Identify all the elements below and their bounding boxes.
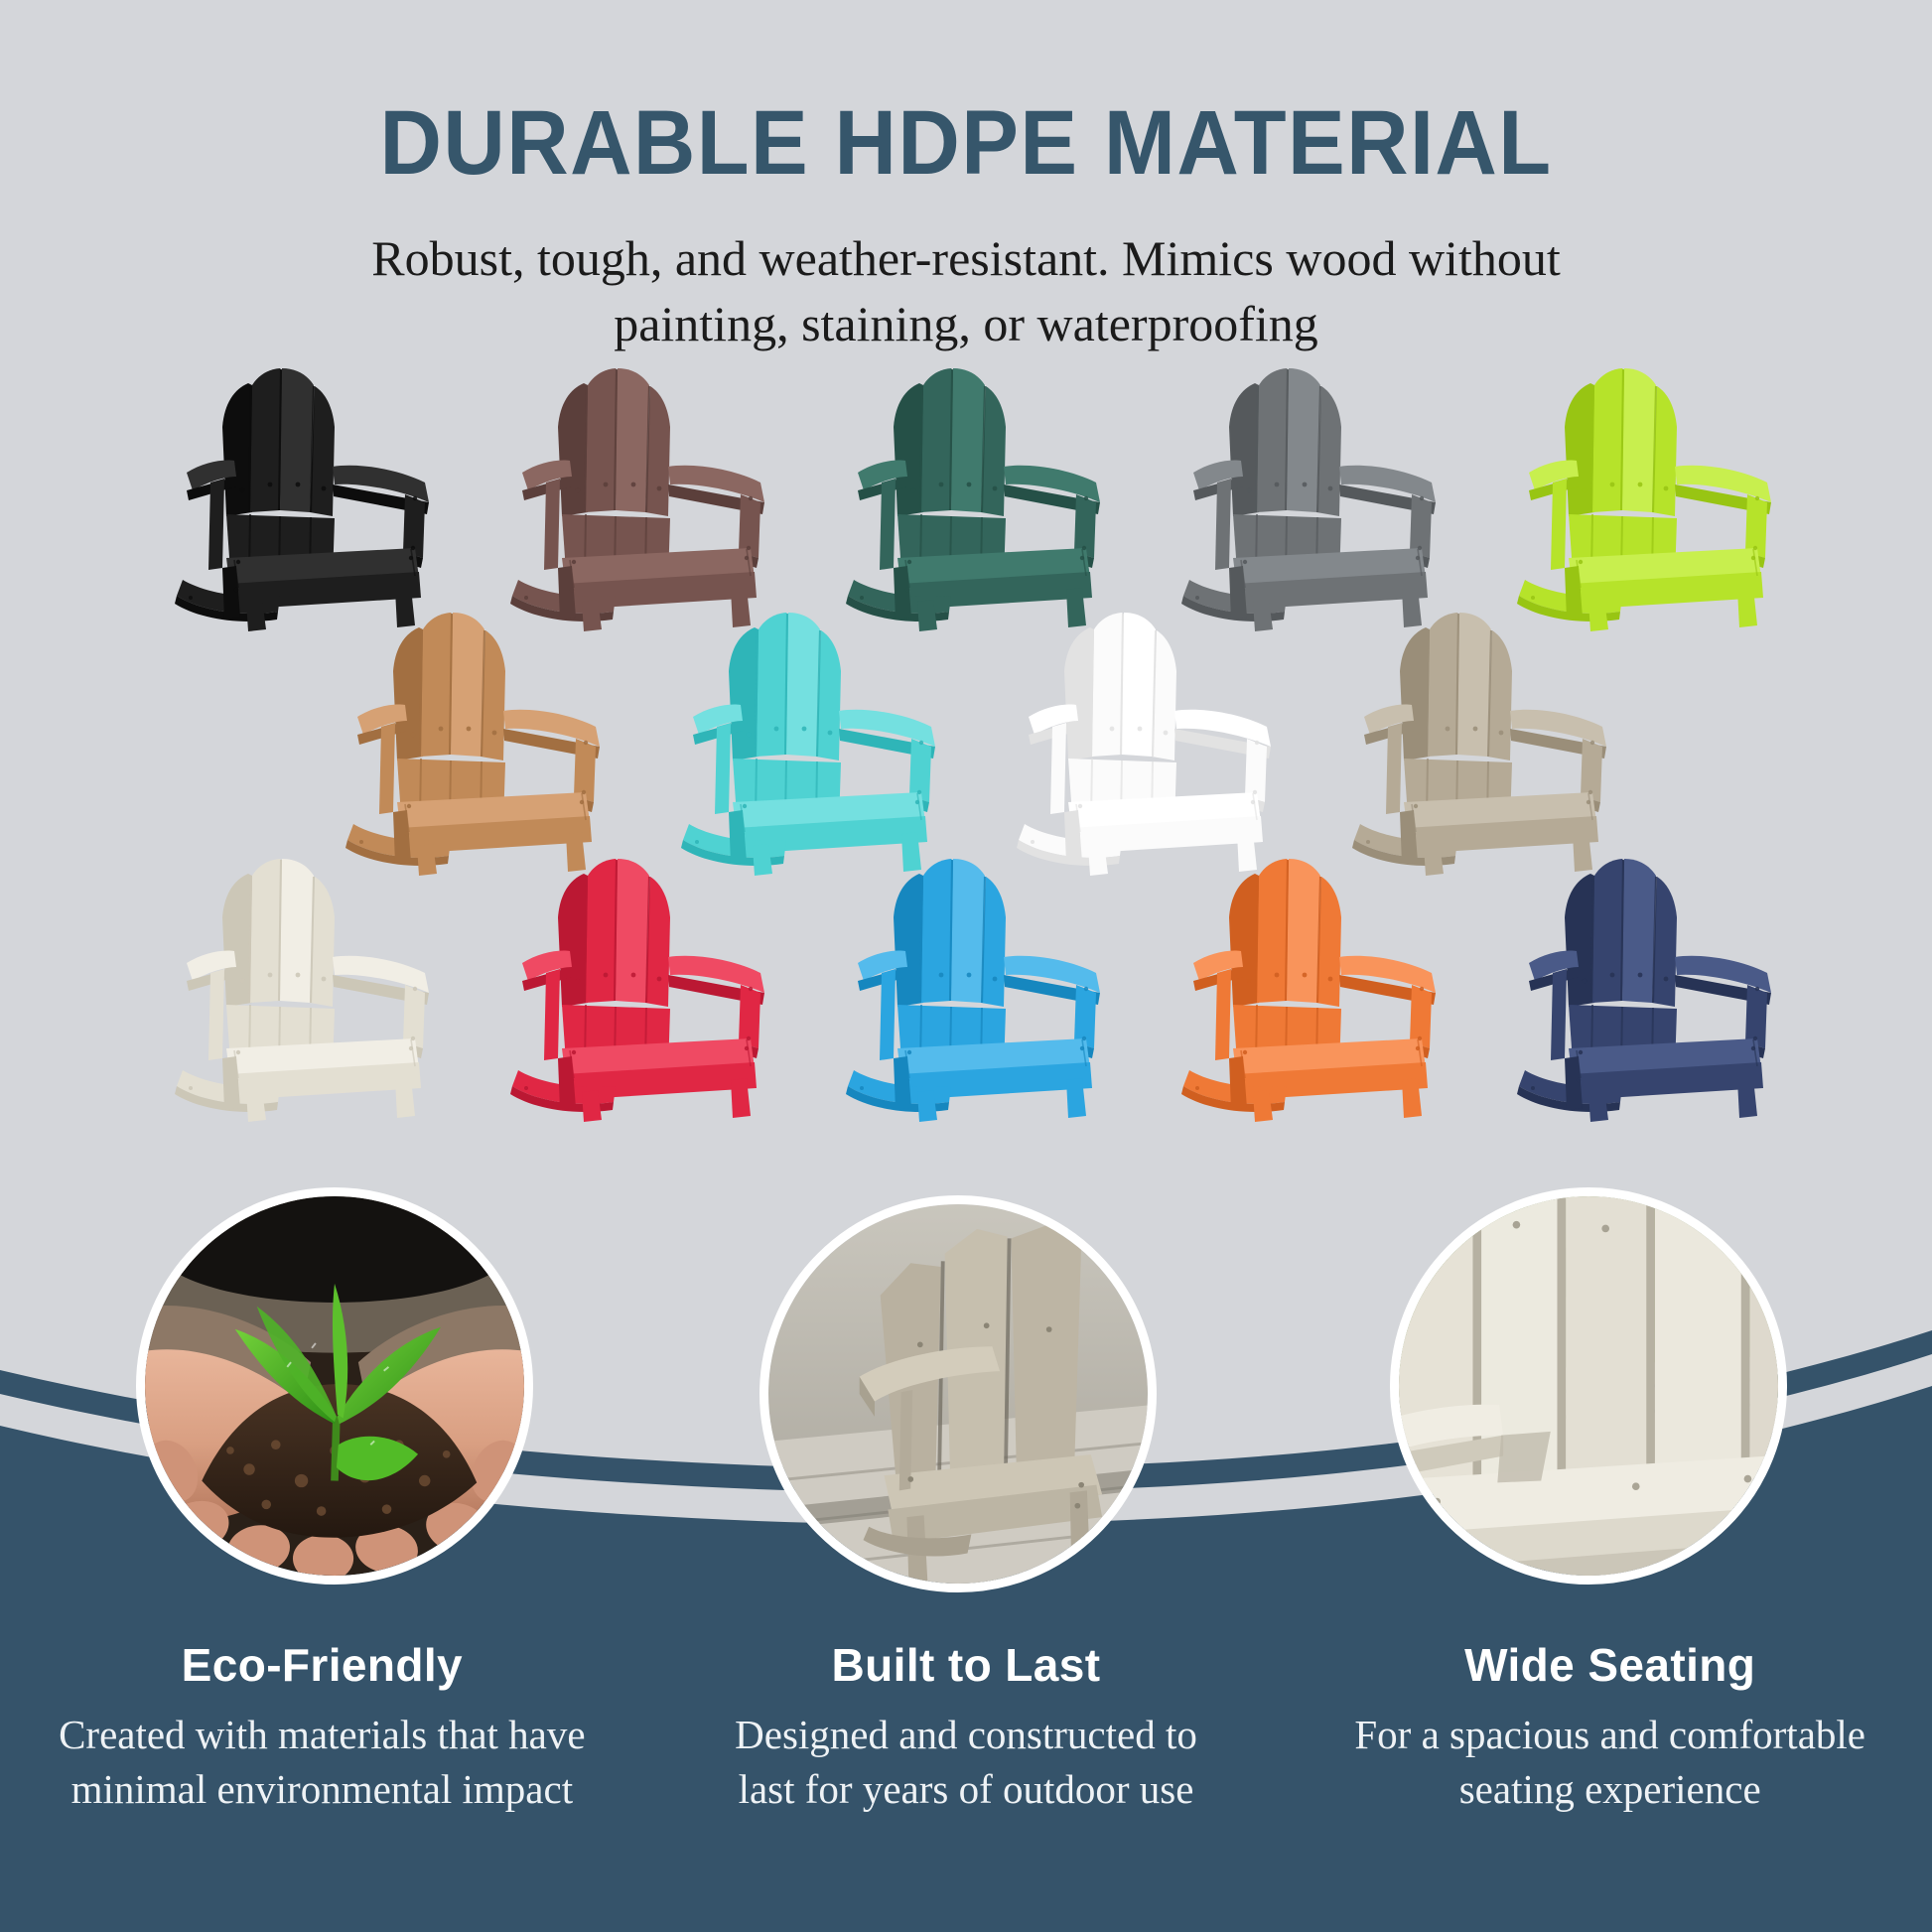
feature-description: For a spacious and comfortable seating e… xyxy=(1313,1708,1906,1817)
chair-row-3 xyxy=(0,854,1932,1124)
chair-swatch-blue[interactable] xyxy=(802,854,1130,1124)
chair-swatch-black[interactable] xyxy=(131,363,459,633)
chair-swatch-navy-blue[interactable] xyxy=(1473,854,1801,1124)
feature-title: Eco-Friendly xyxy=(26,1638,619,1692)
feature-desc-line-2: last for years of outdoor use xyxy=(739,1766,1194,1812)
subtitle-line-2: painting, staining, or waterproofing xyxy=(301,291,1631,357)
feature-photo-row xyxy=(0,1187,1932,1604)
eco-photo-circle xyxy=(136,1187,533,1585)
feature-desc-line-1: Designed and constructed to xyxy=(735,1712,1197,1757)
page-subtitle: Robust, tough, and weather-resistant. Mi… xyxy=(301,225,1631,357)
page-title: DURABLE HDPE MATERIAL xyxy=(58,95,1873,192)
feature-wide-seating: Wide Seating For a spacious and comforta… xyxy=(1288,1638,1932,1817)
feature-eco-friendly: Eco-Friendly Created with materials that… xyxy=(0,1638,644,1817)
seating-photo-circle xyxy=(1390,1187,1787,1585)
feature-title: Built to Last xyxy=(670,1638,1263,1692)
chair-swatch-ivory[interactable] xyxy=(131,854,459,1124)
durability-photo-circle xyxy=(759,1195,1157,1592)
chair-swatch-dark-green[interactable] xyxy=(802,363,1130,633)
feature-built-to-last: Built to Last Designed and constructed t… xyxy=(644,1638,1289,1817)
chair-swatch-white[interactable] xyxy=(973,608,1301,878)
chair-swatch-red[interactable] xyxy=(467,854,794,1124)
chair-swatch-teak[interactable] xyxy=(302,608,629,878)
feature-description: Created with materials that have minimal… xyxy=(26,1708,619,1817)
chair-row-1 xyxy=(0,363,1932,633)
chair-color-grid xyxy=(0,363,1932,1124)
feature-desc-line-2: minimal environmental impact xyxy=(71,1766,574,1812)
chair-swatch-brown[interactable] xyxy=(467,363,794,633)
header-block: DURABLE HDPE MATERIAL Robust, tough, and… xyxy=(0,95,1932,357)
subtitle-line-1: Robust, tough, and weather-resistant. Mi… xyxy=(301,225,1631,292)
feature-desc-line-1: For a spacious and comfortable xyxy=(1354,1712,1865,1757)
feature-desc-line-1: Created with materials that have xyxy=(59,1712,586,1757)
chair-row-2 xyxy=(0,608,1932,878)
feature-description: Designed and constructed to last for yea… xyxy=(670,1708,1263,1817)
chair-swatch-khaki[interactable] xyxy=(1309,608,1636,878)
chair-swatch-orange[interactable] xyxy=(1138,854,1465,1124)
chair-swatch-lime-green[interactable] xyxy=(1473,363,1801,633)
feature-title: Wide Seating xyxy=(1313,1638,1906,1692)
feature-text-row: Eco-Friendly Created with materials that… xyxy=(0,1638,1932,1817)
chair-swatch-gray[interactable] xyxy=(1138,363,1465,633)
feature-desc-line-2: seating experience xyxy=(1459,1766,1761,1812)
chair-swatch-turquoise[interactable] xyxy=(637,608,965,878)
infographic-page: DURABLE HDPE MATERIAL Robust, tough, and… xyxy=(0,0,1932,1932)
